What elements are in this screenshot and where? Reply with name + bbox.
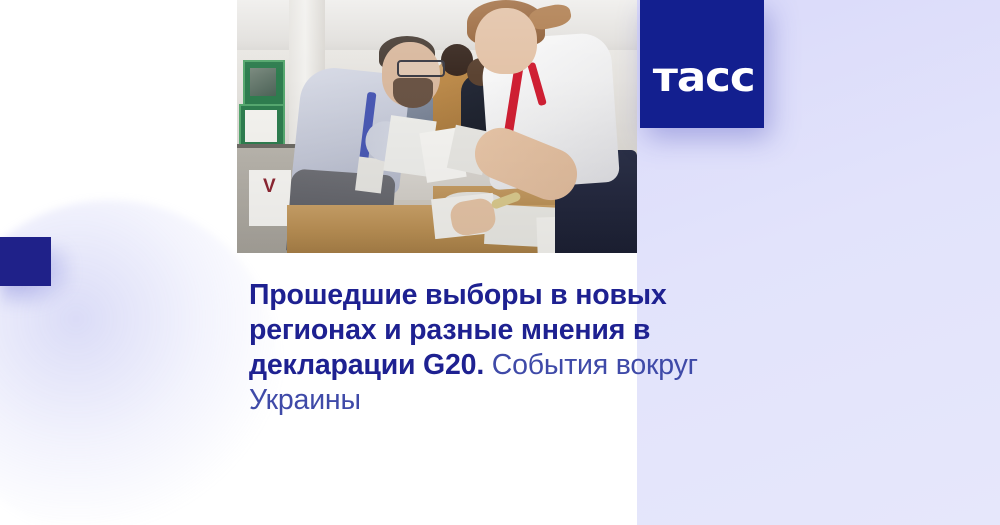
page-title: Прошедшие выборы в новых регионах и разн… [249, 278, 749, 418]
photo-woman-head [475, 8, 537, 74]
photo-ballot-box-label [249, 170, 291, 226]
accent-square [0, 237, 51, 286]
photo-man-beard [393, 78, 433, 108]
tass-logo: тасс [640, 0, 764, 128]
news-card: тасс Прошедшие выборы в новых регионах и… [0, 0, 1000, 525]
photo-man-glasses [397, 60, 445, 77]
news-photo [237, 0, 637, 253]
photo-scene [237, 0, 637, 253]
photo-man-badge [355, 157, 385, 194]
tass-logo-text: тасс [640, 57, 755, 128]
photo-notice-board-green-top [243, 60, 285, 106]
